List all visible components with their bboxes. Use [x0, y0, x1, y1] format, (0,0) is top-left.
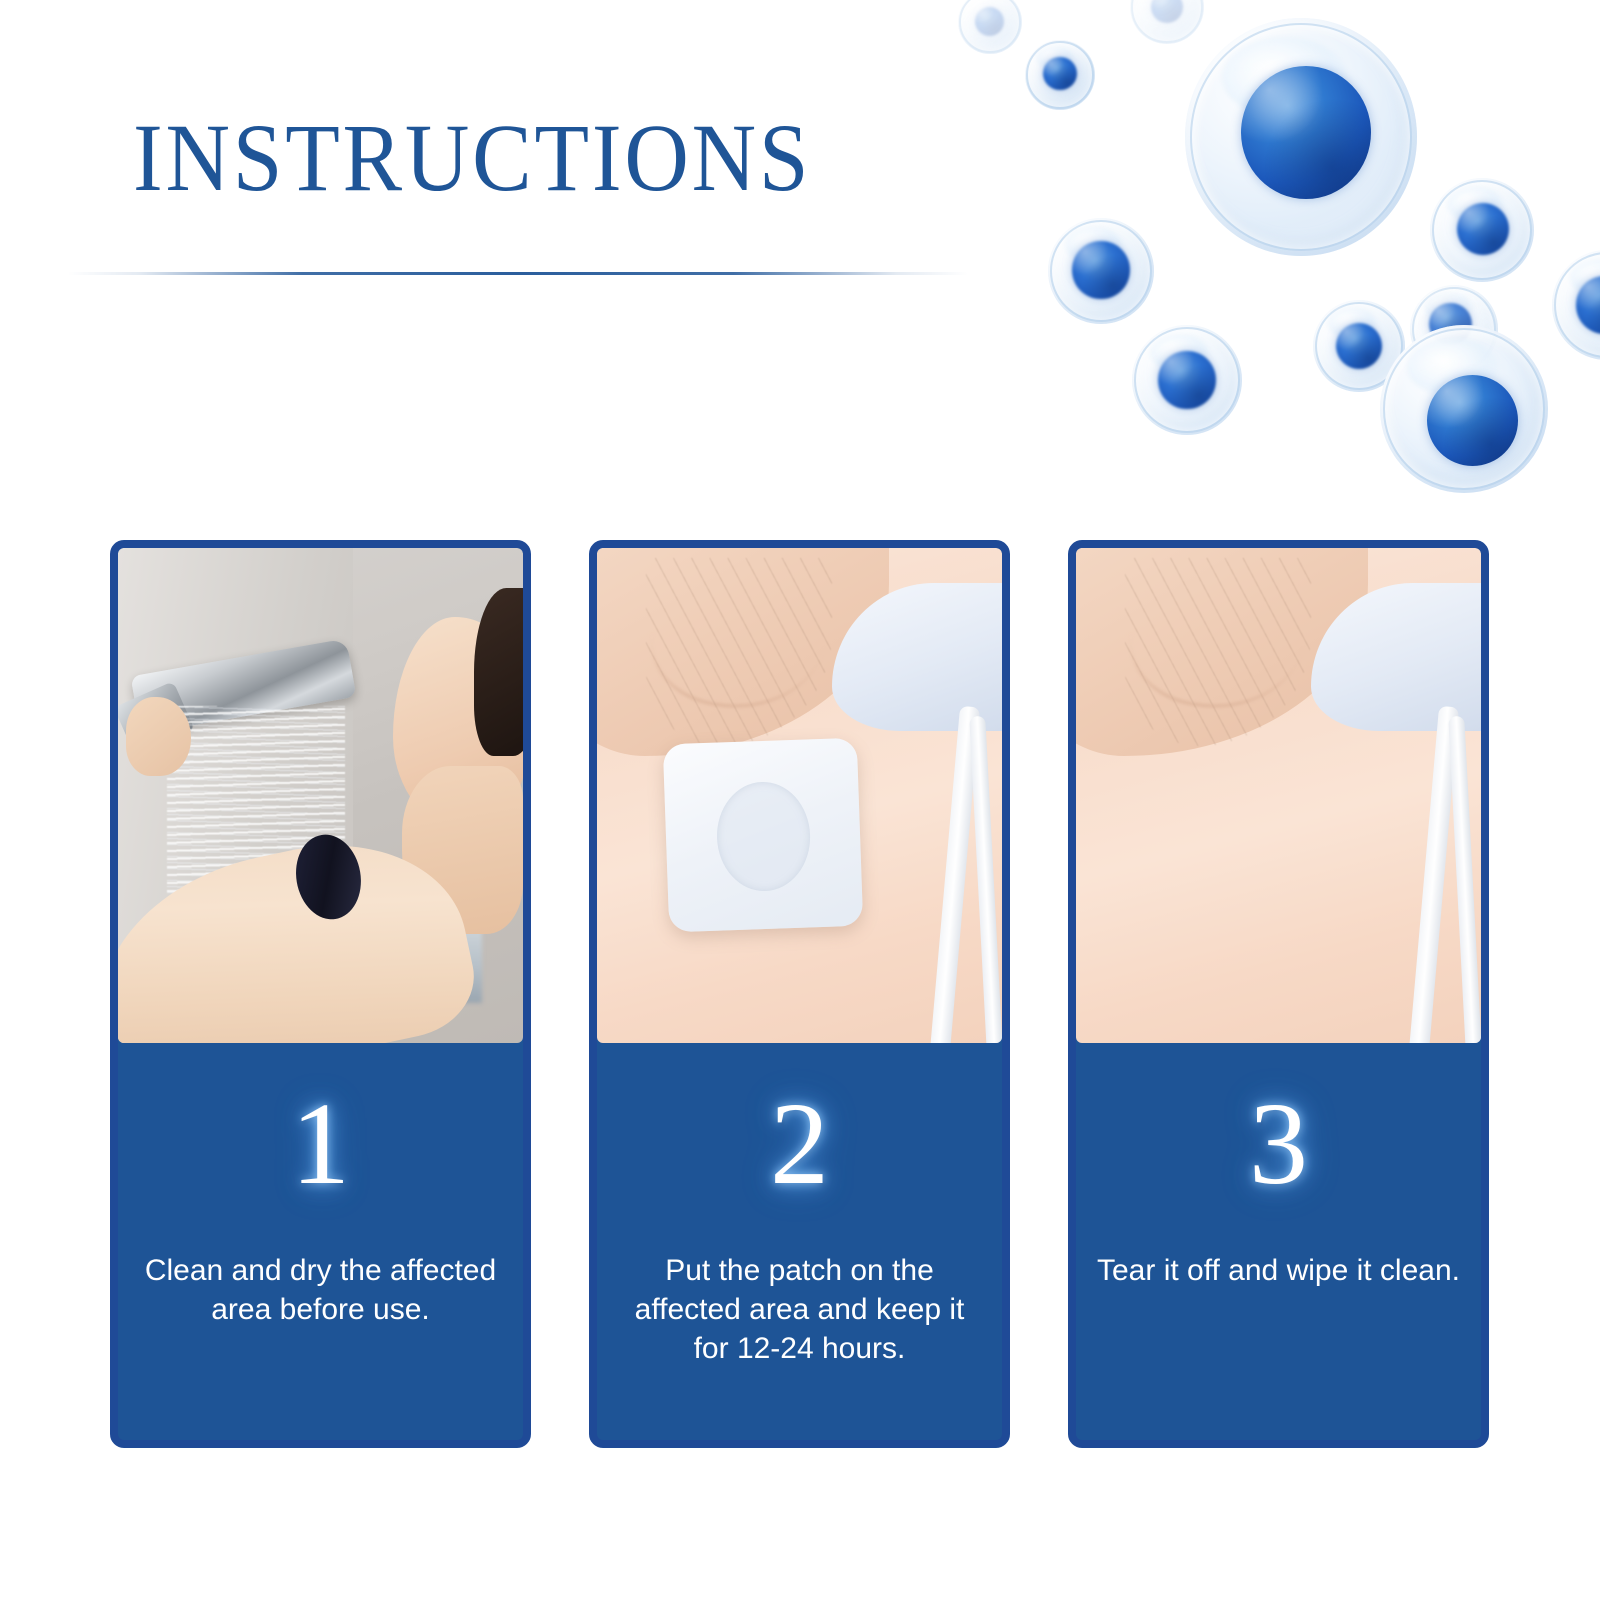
step-caption-1: Clean and dry the affected area before u…: [136, 1251, 505, 1329]
cell-bubble-icon: [1025, 40, 1095, 110]
cell-bubble-icon: [1430, 178, 1534, 282]
step-caption-3: Tear it off and wipe it clean.: [1097, 1251, 1460, 1290]
step-card-2[interactable]: 2 Put the patch on the affected area and…: [589, 540, 1010, 1448]
cell-bubble-icon: [1130, 0, 1204, 44]
cells-bubbles-graphic: [980, 0, 1600, 480]
step-caption-2: Put the patch on the affected area and k…: [615, 1251, 984, 1368]
step-number-3: 3: [1249, 1085, 1308, 1203]
step-card-1[interactable]: 1 Clean and dry the affected area before…: [110, 540, 531, 1448]
cell-bubble-icon: [1380, 325, 1548, 493]
title-divider: [68, 272, 968, 275]
cell-bubble-icon: [1313, 300, 1405, 392]
instructions-page: INSTRUCTIONS: [0, 0, 1600, 1600]
page-header: INSTRUCTIONS: [0, 0, 1000, 300]
shower-rinsing-underarm-photo: [118, 548, 523, 1043]
step-card-3[interactable]: 3 Tear it off and wipe it clean.: [1068, 540, 1489, 1448]
clean-underarm-after-removal-photo: [1076, 548, 1481, 1043]
cell-bubble-icon: [1132, 325, 1242, 435]
cell-bubble-icon: [1410, 285, 1498, 373]
patch-product-icon: [663, 738, 864, 933]
cell-bubble-icon: [1185, 18, 1417, 256]
page-title: INSTRUCTIONS: [133, 108, 811, 209]
step-card-2-body: 2 Put the patch on the affected area and…: [597, 1043, 1002, 1440]
patch-applied-to-underarm-photo: [597, 548, 1002, 1043]
steps-container: 1 Clean and dry the affected area before…: [110, 540, 1490, 1450]
step-card-3-body: 3 Tear it off and wipe it clean.: [1076, 1043, 1481, 1440]
step-number-1: 1: [291, 1085, 350, 1203]
cell-bubble-icon: [1048, 218, 1154, 324]
step-number-2: 2: [770, 1085, 829, 1203]
step-card-1-body: 1 Clean and dry the affected area before…: [118, 1043, 523, 1440]
cell-bubble-icon: [1552, 250, 1600, 360]
